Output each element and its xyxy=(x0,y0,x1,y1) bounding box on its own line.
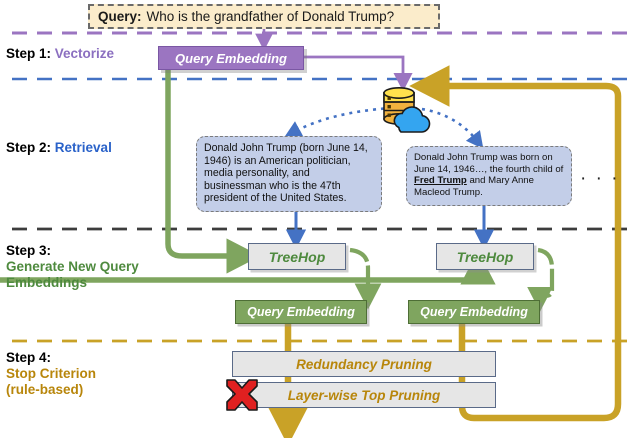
step-1-name: Vectorize xyxy=(55,46,114,61)
redundancy-pruning-label: Redundancy Pruning xyxy=(296,357,432,372)
database-cloud-icon xyxy=(374,82,436,134)
treehop-box-right[interactable]: TreeHop xyxy=(436,243,534,270)
step-3-name: Generate New Query xyxy=(6,259,139,275)
query-banner: Query: Who is the grandfather of Donald … xyxy=(88,4,440,29)
step-1-label: Step 1: Vectorize xyxy=(6,46,114,62)
query-embedding-top-label: Query Embedding xyxy=(175,51,287,66)
red-x-icon xyxy=(221,377,263,413)
retrieved-document-1: Donald John Trump (born June 14, 1946) i… xyxy=(196,136,382,212)
treehop-box-left[interactable]: TreeHop xyxy=(248,243,346,270)
step-4-label: Step 4: Stop Criterion (rule-based) xyxy=(6,350,96,398)
step-4-name-line2: (rule-based) xyxy=(6,382,96,398)
retrieved-document-2-text-a: Donald John Trump was born on June 14, 1… xyxy=(414,152,563,175)
layerwise-top-pruning-box[interactable]: Layer-wise Top Pruning xyxy=(232,382,496,408)
query-text: Who is the grandfather of Donald Trump? xyxy=(147,9,395,24)
retrieved-document-2-highlight: Fred Trump xyxy=(414,175,467,186)
query-embedding-left-label: Query Embedding xyxy=(247,305,355,319)
treehop-left-label: TreeHop xyxy=(269,249,326,265)
step-3-label: Step 3: Generate New Query Embeddings xyxy=(6,243,139,291)
step-3-number: Step 3: xyxy=(6,243,51,258)
redundancy-pruning-box[interactable]: Redundancy Pruning xyxy=(232,351,496,377)
wire-treehop1-to-qe1 xyxy=(350,250,368,296)
retrieved-document-1-text: Donald John Trump (born June 14, 1946) i… xyxy=(204,142,368,204)
step-2-number: Step 2: xyxy=(6,140,51,155)
figure-canvas: Query: Who is the grandfather of Donald … xyxy=(0,0,640,438)
step-4-name: Stop Criterion xyxy=(6,366,96,382)
query-label: Query: xyxy=(98,9,142,24)
step-1-number: Step 1: xyxy=(6,46,51,61)
step-3-name-line2: Embeddings xyxy=(6,275,139,291)
step-2-name: Retrieval xyxy=(55,140,112,155)
query-embedding-box-right[interactable]: Query Embedding xyxy=(408,300,540,324)
treehop-right-label: TreeHop xyxy=(457,249,514,265)
step-4-number: Step 4: xyxy=(6,350,51,365)
query-embedding-box-left[interactable]: Query Embedding xyxy=(235,300,367,324)
retrieved-document-2: Donald John Trump was born on June 14, 1… xyxy=(406,146,572,206)
query-embedding-box-top[interactable]: Query Embedding xyxy=(158,46,304,70)
more-documents-ellipsis: · · · xyxy=(580,168,620,190)
wire-treehop2-to-qe2 xyxy=(538,250,552,296)
layerwise-top-pruning-label: Layer-wise Top Pruning xyxy=(288,388,441,403)
query-embedding-right-label: Query Embedding xyxy=(420,305,528,319)
step-2-label: Step 2: Retrieval xyxy=(6,140,112,156)
